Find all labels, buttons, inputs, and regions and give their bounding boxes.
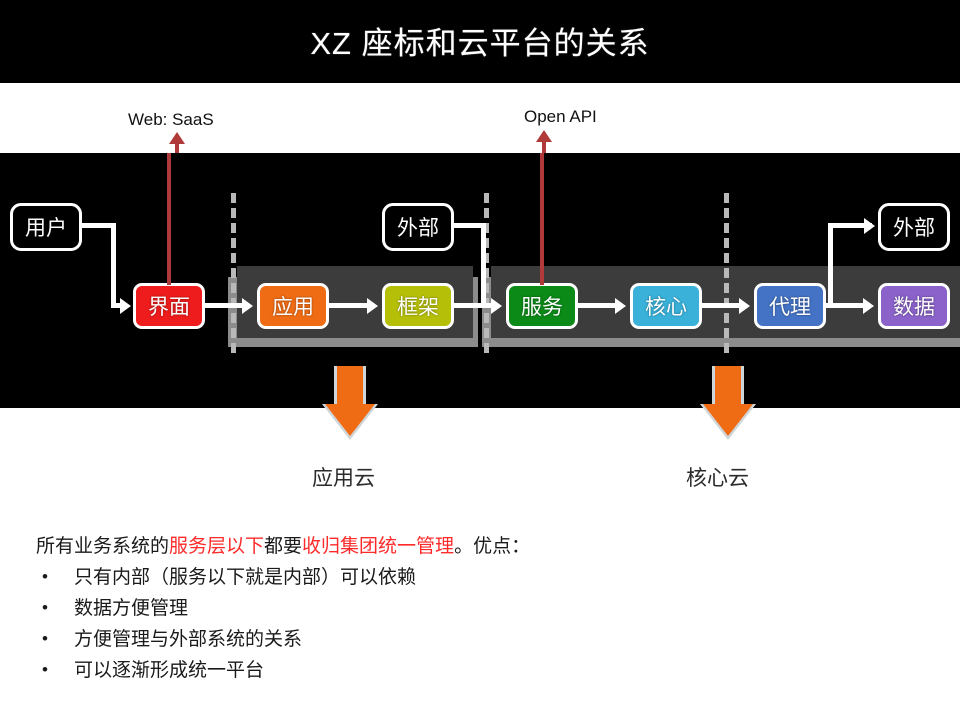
list-item: 可以逐渐形成统一平台 (36, 655, 936, 686)
cloud-label-app: 应用云 (312, 462, 375, 492)
node-service[interactable]: 服务 (506, 283, 578, 329)
node-agent-label: 代理 (769, 291, 811, 321)
title-band: XZ 座标和云平台的关系 (0, 0, 960, 83)
node-user-label: 用户 (25, 212, 67, 242)
connector-user-v (111, 223, 116, 308)
node-core-label: 核心 (645, 291, 687, 321)
list-item: 数据方便管理 (36, 593, 936, 624)
connector-framework-service (454, 303, 494, 308)
divider-dashed-left (231, 193, 236, 353)
arrowhead-service-core (615, 298, 626, 314)
node-application-label: 应用 (272, 291, 314, 321)
node-agent[interactable]: 代理 (754, 283, 826, 329)
arrowhead-framework-service (491, 298, 502, 314)
connector-ext-mid-v (481, 223, 486, 308)
list-item: 方便管理与外部系统的关系 (36, 624, 936, 655)
orange-arrow-app-cloud (325, 366, 375, 436)
node-external-right[interactable]: 外部 (878, 203, 950, 251)
connector-ext-right-v (828, 223, 833, 308)
summary-block: 所有业务系统的服务层以下都要收归集团统一管理。优点： 只有内部（服务以下就是内部… (36, 532, 936, 686)
node-service-label: 服务 (521, 291, 563, 321)
orange-arrow-app-cloud-shaft (337, 366, 363, 404)
page-title: XZ 座标和云平台的关系 (0, 18, 960, 63)
node-core[interactable]: 核心 (630, 283, 702, 329)
connector-interface-application (205, 303, 245, 308)
diagram-band: 用户 外部 外部 界面 应用 框架 服务 (0, 153, 960, 408)
callout-label-open-api: Open API (524, 107, 597, 127)
node-external-right-label: 外部 (893, 212, 935, 242)
node-data[interactable]: 数据 (878, 283, 950, 329)
slide-root: XZ 座标和云平台的关系 Web: SaaS Open API 用户 外部 外部 (0, 0, 960, 720)
node-external-middle-label: 外部 (397, 212, 439, 242)
divider-dashed-right (724, 193, 729, 353)
node-interface[interactable]: 界面 (133, 283, 205, 329)
summary-lead-part1: 所有业务系统的 (36, 536, 169, 557)
arrowhead-agent-data (863, 298, 874, 314)
summary-lead-part2: 都要 (264, 536, 302, 557)
arrowhead-core-agent (739, 298, 750, 314)
summary-bullet-list: 只有内部（服务以下就是内部）可以依赖 数据方便管理 方便管理与外部系统的关系 可… (36, 562, 936, 686)
summary-highlight-2: 收归集团统一管理 (302, 536, 454, 557)
summary-lead-part3: 。优点： (454, 536, 530, 557)
arrowhead-agent-to-external (864, 218, 875, 234)
summary-lead: 所有业务系统的服务层以下都要收归集团统一管理。优点： (36, 532, 936, 562)
node-data-label: 数据 (893, 291, 935, 321)
connector-core-agent (702, 303, 742, 308)
orange-arrow-core-cloud-shaft (715, 366, 741, 404)
summary-highlight-1: 服务层以下 (169, 536, 264, 557)
connector-agent-data (826, 303, 866, 308)
connector-application-framework (329, 303, 369, 308)
arrowhead-interface-application (242, 298, 253, 314)
arrowhead-application-framework (367, 298, 378, 314)
orange-arrow-core-cloud (703, 366, 753, 436)
cloud-label-core: 核心云 (686, 462, 749, 492)
orange-arrow-core-cloud-head (703, 404, 753, 436)
red-arrow-shaft-open-api (540, 153, 544, 285)
list-item: 只有内部（服务以下就是内部）可以依赖 (36, 562, 936, 593)
arrowhead-user-to-interface (120, 298, 131, 314)
node-application[interactable]: 应用 (257, 283, 329, 329)
node-external-middle[interactable]: 外部 (382, 203, 454, 251)
node-user[interactable]: 用户 (10, 203, 82, 251)
red-arrow-shaft-web-saas (167, 153, 171, 285)
node-framework-label: 框架 (397, 291, 439, 321)
node-interface-label: 界面 (148, 291, 190, 321)
orange-arrow-app-cloud-head (325, 404, 375, 436)
callout-label-web-saas: Web: SaaS (128, 110, 214, 130)
connector-service-core (578, 303, 618, 308)
node-framework[interactable]: 框架 (382, 283, 454, 329)
